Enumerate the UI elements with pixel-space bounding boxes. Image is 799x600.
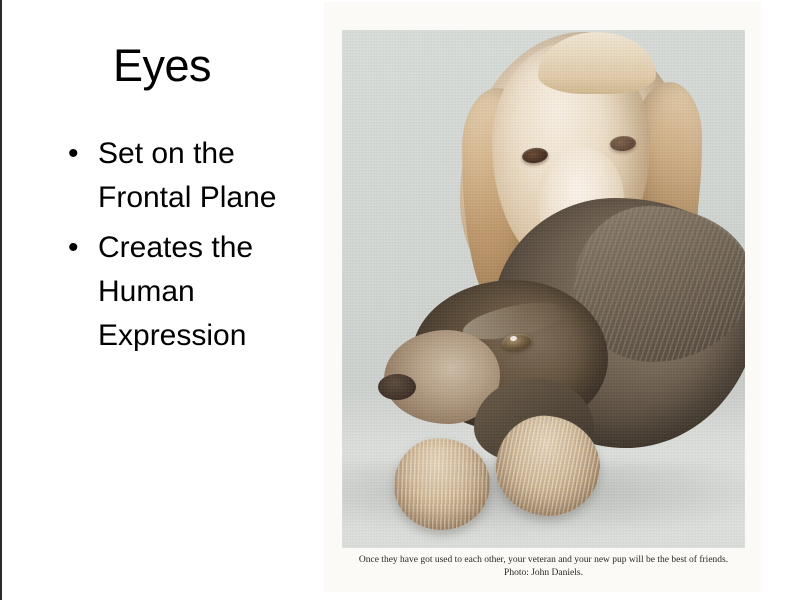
bullet-list: • Set on the Frontal Plane • Creates the… xyxy=(60,132,330,364)
photo-caption: Once they have got used to each other, y… xyxy=(342,554,745,579)
caption-text: Once they have got used to each other, y… xyxy=(342,554,745,567)
puppy-nose xyxy=(378,374,416,400)
bullet-point-icon: • xyxy=(68,226,79,270)
presentation-slide: Eyes • Set on the Frontal Plane • Create… xyxy=(0,0,799,600)
dog-photograph xyxy=(342,30,745,548)
bullet-item-label: Set on the Frontal Plane xyxy=(98,132,330,220)
list-item: • Creates the Human Expression xyxy=(60,226,330,358)
slide-text-column: Eyes • Set on the Frontal Plane • Create… xyxy=(2,0,322,600)
photo-credit: Photo: John Daniels. xyxy=(342,567,745,580)
list-item: • Set on the Frontal Plane xyxy=(60,132,330,220)
bullet-item-label: Creates the Human Expression xyxy=(98,226,330,358)
photo-page: Once they have got used to each other, y… xyxy=(324,2,761,592)
page-title: Eyes xyxy=(2,40,322,92)
bullet-point-icon: • xyxy=(68,132,79,176)
